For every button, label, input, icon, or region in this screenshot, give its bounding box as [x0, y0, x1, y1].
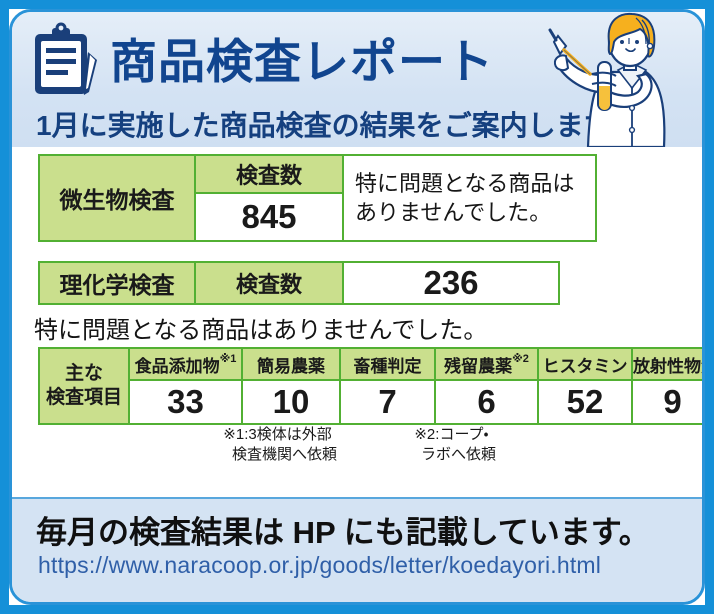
- micro-count-header: 検査数: [195, 155, 343, 193]
- report-body: 微生物検査 検査数 特に問題となる商品は ありませんでした。 845 理化学検査…: [12, 147, 702, 469]
- item-value-1: 10: [242, 380, 340, 424]
- footnote-1-line1: ※1:3検体は外部: [218, 425, 337, 445]
- report-card: 商品検査レポート 1月に実施した商品検査の結果をご案内します。: [9, 9, 705, 605]
- footnote-1: ※1:3検体は外部 検査機関へ依頼: [218, 425, 337, 464]
- item-header-1: 簡易農薬: [242, 348, 340, 380]
- table-row: 33 10 7 6 52 9: [39, 380, 705, 424]
- items-side-label-line2: 検査項目: [40, 386, 128, 410]
- items-side-label-line1: 主な: [40, 362, 128, 386]
- physico-note: 特に問題となる商品はありませんでした。: [34, 310, 487, 345]
- footnote-2-line1: ※2:コープ・: [407, 425, 496, 445]
- header-title-row: 商品検査レポート: [30, 18, 494, 104]
- physico-count-header: 検査数: [195, 262, 343, 304]
- item-header-4: ヒスタミン: [538, 348, 632, 380]
- lab-technician-illustration: [546, 12, 696, 147]
- physicochemical-table: 理化学検査 検査数 236: [38, 261, 560, 305]
- physico-label: 理化学検査: [39, 262, 195, 304]
- inspection-items-table: 主な 検査項目 食品添加物※1 簡易農薬 畜種判定 残留農薬※2 ヒスタミン 放…: [38, 347, 705, 425]
- item-value-3: 6: [435, 380, 538, 424]
- micro-note-line1: 特に問題となる商品は: [355, 169, 595, 198]
- micro-label: 微生物検査: [39, 155, 195, 241]
- item-value-0: 33: [129, 380, 242, 424]
- table-row: 主な 検査項目 食品添加物※1 簡易農薬 畜種判定 残留農薬※2 ヒスタミン 放…: [39, 348, 705, 380]
- item-value-5: 9: [632, 380, 705, 424]
- footnotes: ※1:3検体は外部 検査機関へ依頼 ※2:コープ・ ラボへ依頼: [12, 425, 702, 464]
- header-band: 商品検査レポート 1月に実施した商品検査の結果をご案内します。: [12, 12, 702, 147]
- physico-count-value: 236: [343, 262, 559, 304]
- item-value-2: 7: [340, 380, 435, 424]
- footnote-2-line2: ラボへ依頼: [407, 445, 496, 465]
- footnote-2: ※2:コープ・ ラボへ依頼: [407, 425, 496, 464]
- page-title: 商品検査レポート: [110, 38, 494, 85]
- footer-band: 毎月の検査結果は HP にも記載しています。 https://www.narac…: [12, 497, 702, 602]
- footer-message: 毎月の検査結果は HP にも記載しています。: [36, 507, 650, 552]
- clipboard-icon: [30, 22, 104, 100]
- report-page: 商品検査レポート 1月に実施した商品検査の結果をご案内します。: [0, 0, 714, 614]
- item-value-4: 52: [538, 380, 632, 424]
- items-side-label: 主な 検査項目: [39, 348, 129, 424]
- footer-url-link[interactable]: https://www.naracoop.or.jp/goods/letter/…: [38, 552, 601, 579]
- micro-note-line2: ありませんでした。: [355, 198, 595, 227]
- table-row: 微生物検査 検査数 特に問題となる商品は ありませんでした。: [39, 155, 596, 193]
- item-header-5: 放射性物質: [632, 348, 705, 380]
- microbiological-table: 微生物検査 検査数 特に問題となる商品は ありませんでした。 845: [38, 154, 597, 242]
- item-header-2: 畜種判定: [340, 348, 435, 380]
- item-header-0: 食品添加物※1: [129, 348, 242, 380]
- micro-note: 特に問題となる商品は ありませんでした。: [343, 155, 596, 241]
- item-header-3: 残留農薬※2: [435, 348, 538, 380]
- micro-count-value: 845: [195, 193, 343, 241]
- table-row: 理化学検査 検査数 236: [39, 262, 559, 304]
- footnote-1-line2: 検査機関へ依頼: [218, 445, 337, 465]
